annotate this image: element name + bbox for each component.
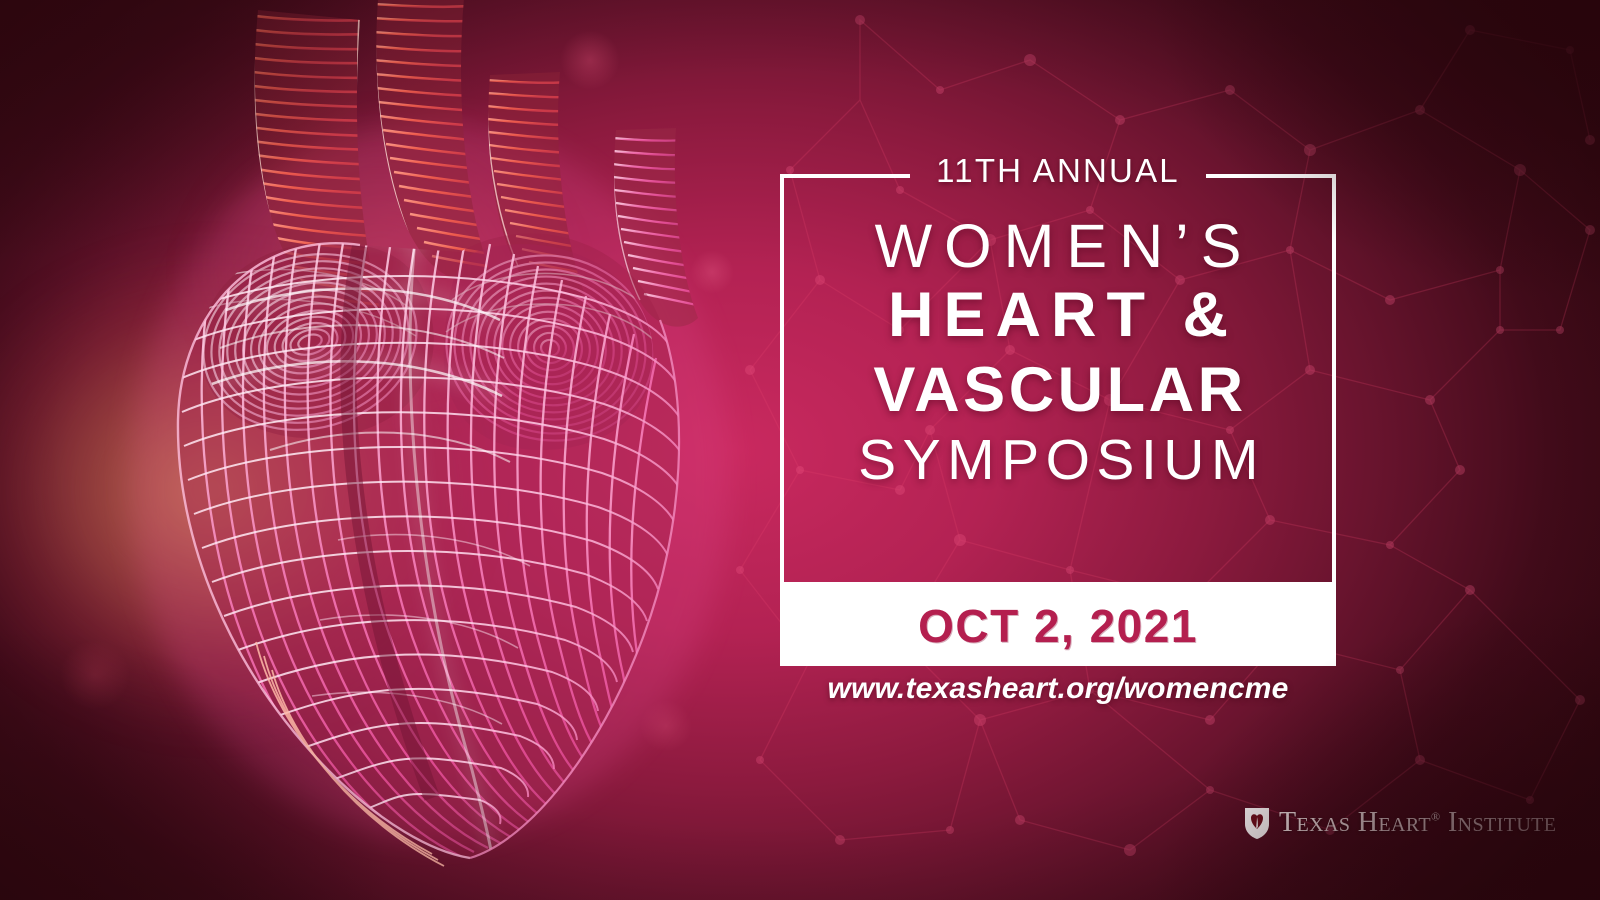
poster-canvas: 11TH ANNUAL WOMEN’S HEART & VASCULAR SYM… xyxy=(0,0,1600,900)
corner-dark-overlay xyxy=(0,0,1600,900)
